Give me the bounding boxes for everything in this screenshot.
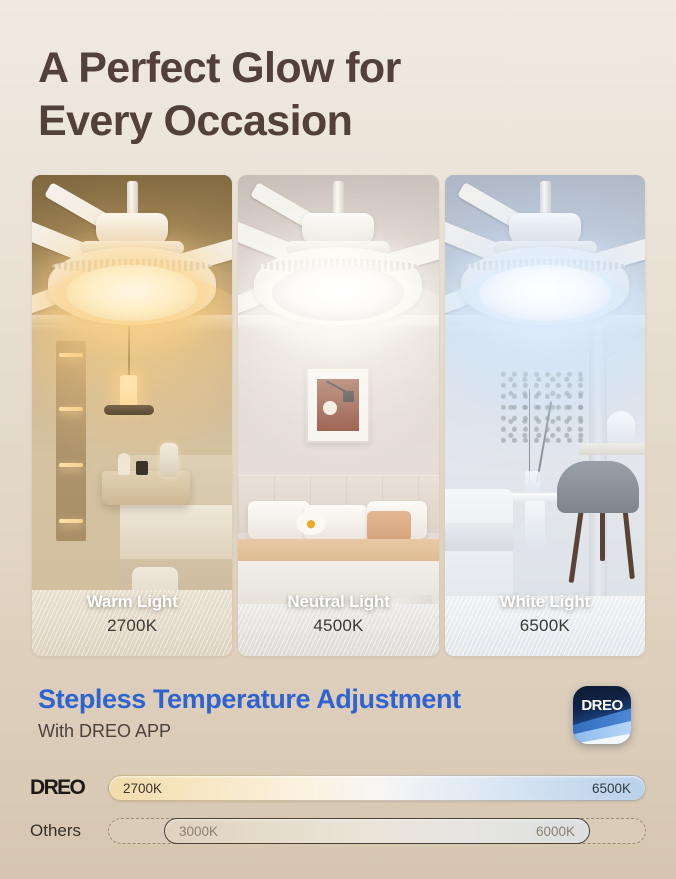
range-max-label: 6000K [536, 824, 575, 839]
others-temperature-range-bar: 3000K 6000K [164, 818, 590, 844]
bed-sheet-warm [120, 505, 232, 559]
panel-label-name: White Light [445, 592, 645, 612]
side-table-base [525, 501, 545, 547]
comparison-row-dreo: DREO 2700K 6500K [30, 774, 646, 802]
bed-runner [238, 539, 438, 561]
section-heading: Stepless Temperature Adjustment [38, 684, 461, 715]
panel-caption: Warm Light 2700K [32, 592, 232, 636]
range-min-label: 3000K [179, 824, 218, 839]
panel-caption: Neutral Light 4500K [238, 592, 438, 636]
fan-downrod [540, 181, 551, 217]
range-min-label: 2700K [123, 781, 162, 796]
comparison-row-label: Others [30, 821, 108, 841]
pendant-lamp-glass [120, 375, 137, 407]
headline-line-2: Every Occasion [38, 95, 598, 148]
pendant-lamp-base [104, 405, 154, 415]
others-full-range-track: 3000K 6000K [108, 818, 646, 844]
panel-label-kelvin: 4500K [238, 616, 438, 636]
panel-warm-light[interactable]: Warm Light 2700K [32, 175, 232, 656]
panel-white-light[interactable]: White Light 6500K [445, 175, 645, 656]
fan-light-diffuser-white [479, 265, 611, 321]
section-subheading: With DREO APP [38, 721, 171, 742]
fan-light-diffuser-neutral [272, 265, 404, 321]
wall-art-frame [306, 367, 370, 443]
fan-downrod [127, 181, 138, 217]
bear-figurine [160, 443, 178, 477]
wall-niche [56, 341, 86, 541]
panel-label-name: Warm Light [32, 592, 232, 612]
fan-light-diffuser-warm [66, 265, 198, 321]
comparison-row-label: DREO [30, 776, 108, 800]
chair [557, 461, 639, 513]
dreo-logo: DREO [30, 776, 84, 799]
comparison-row-others: Others 3000K 6000K [30, 817, 646, 845]
page-title: A Perfect Glow for Every Occasion [38, 42, 598, 149]
headline-line-1: A Perfect Glow for [38, 44, 401, 92]
dreo-app-icon[interactable]: DREO [573, 686, 631, 744]
decor-object-box [136, 461, 148, 475]
wall-art-canvas [317, 379, 359, 431]
light-temperature-panels: Warm Light 2700K [32, 175, 645, 656]
table-lamp [607, 411, 635, 441]
decor-object-vase [118, 453, 130, 475]
range-max-label: 6500K [592, 781, 631, 796]
pendant-cord [128, 325, 130, 377]
desk [579, 443, 645, 455]
panel-caption: White Light 6500K [445, 592, 645, 636]
others-label: Others [30, 821, 81, 840]
wall-art-square [343, 391, 354, 402]
panel-label-kelvin: 2700K [32, 616, 232, 636]
bed-sheet-white [445, 523, 513, 551]
dreo-temperature-range-bar[interactable]: 2700K 6500K [108, 775, 646, 801]
wall-art-circle [323, 401, 337, 415]
panel-neutral-light[interactable]: Neutral Light 4500K [238, 175, 438, 656]
app-icon-label: DREO [573, 697, 631, 714]
accent-cushion [367, 511, 411, 541]
panel-label-kelvin: 6500K [445, 616, 645, 636]
fan-downrod [333, 181, 344, 217]
panel-label-name: Neutral Light [238, 592, 438, 612]
nightstand [102, 471, 190, 505]
plant-stem [529, 389, 531, 483]
